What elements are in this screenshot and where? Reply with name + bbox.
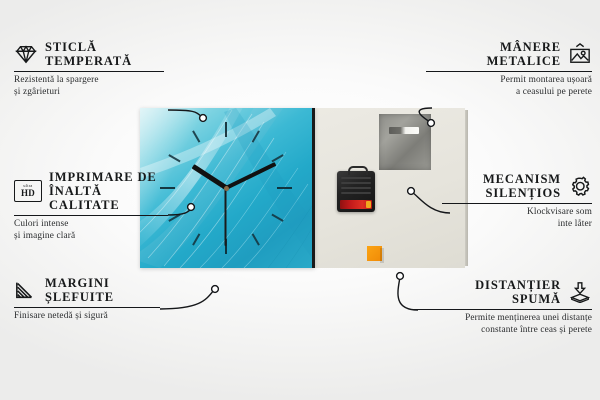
diamond-icon (14, 43, 38, 65)
feature-hd-print: ultra HD IMPRIMARE DE ÎNALTĂ CALITATE Cu… (14, 170, 168, 242)
feature-title-line2: ÎNALTĂ CALITATE (49, 184, 168, 212)
divider (14, 215, 168, 216)
feature-title-line2: ȘLEFUITE (45, 290, 114, 304)
feature-desc-line1: Finisare netedă și sigură (14, 311, 160, 322)
ultra-hd-badge-icon: ultra HD (14, 180, 42, 202)
dot-foam-spacer (397, 273, 404, 280)
feature-title-line1: MECANISM (483, 172, 561, 186)
feature-title-line2: SPUMĂ (475, 292, 561, 306)
feature-title-line2: SILENȚIOS (483, 186, 561, 200)
divider (442, 203, 592, 204)
divider (14, 307, 160, 308)
feature-desc-line2: constante între ceas și perete (410, 325, 592, 336)
divider (14, 71, 164, 72)
wire-polished-edges (160, 290, 214, 309)
divider (410, 309, 592, 310)
second-hand (225, 188, 227, 246)
diagonal-lines-icon (14, 279, 38, 301)
feature-desc-line1: Permite menținerea unei distanțe (410, 313, 592, 324)
feature-title-line1: STICLĂ (45, 40, 132, 54)
feature-desc-line1: Permit montarea ușoară (426, 75, 592, 86)
feature-desc-line1: Klockvisare som (442, 207, 592, 218)
feature-title-line2: METALICE (487, 54, 561, 68)
feature-desc-line1: Culori intense (14, 219, 168, 230)
feature-title-line1: MÂNERE (487, 40, 561, 54)
hanger-slot (389, 127, 419, 134)
badge-hd-text: HD (21, 189, 35, 198)
feature-polished-edges: MARGINI ȘLEFUITE Finisare netedă și sigu… (14, 276, 160, 323)
feature-desc-line2: și imagine clară (14, 231, 168, 242)
feature-title-line1: MARGINI (45, 276, 114, 290)
gear-icon (568, 175, 592, 197)
feature-desc-line1: Rezistentă la spargere (14, 75, 164, 86)
feature-desc-line2: a ceasului pe perete (426, 87, 592, 98)
divider (426, 71, 592, 72)
foam-spacer-block (367, 246, 382, 261)
hand-center-pin (224, 186, 229, 191)
feature-metal-handles: MÂNERE METALICE Permit montarea ușoară a… (426, 40, 592, 98)
feature-silent-mechanism: MECANISM SILENȚIOS Klockvisare som inte … (442, 172, 592, 230)
feature-title-line2: TEMPERATĂ (45, 54, 132, 68)
feature-title-line1: DISTANȚIER (475, 278, 561, 292)
product-photo (140, 108, 465, 268)
movement-hanger-loop (348, 166, 368, 175)
metal-hanger-plate (379, 114, 431, 170)
quartz-movement (337, 171, 375, 212)
dot-polished-edges (212, 286, 219, 293)
framed-picture-hanger-icon (568, 43, 592, 65)
infographic-canvas: STICLĂ TEMPERATĂ Rezistentă la spargere … (0, 0, 600, 400)
feature-tempered-glass: STICLĂ TEMPERATĂ Rezistentă la spargere … (14, 40, 164, 98)
movement-ribs (341, 177, 371, 195)
feature-desc-line2: și zgârieturi (14, 87, 164, 98)
aa-battery (340, 200, 372, 209)
feature-foam-spacer: DISTANȚIER SPUMĂ Permite menținerea unei… (410, 278, 592, 336)
feature-desc-line2: inte låter (442, 219, 592, 230)
feature-title-line1: IMPRIMARE DE (49, 170, 168, 184)
press-down-arrow-icon (568, 281, 592, 303)
